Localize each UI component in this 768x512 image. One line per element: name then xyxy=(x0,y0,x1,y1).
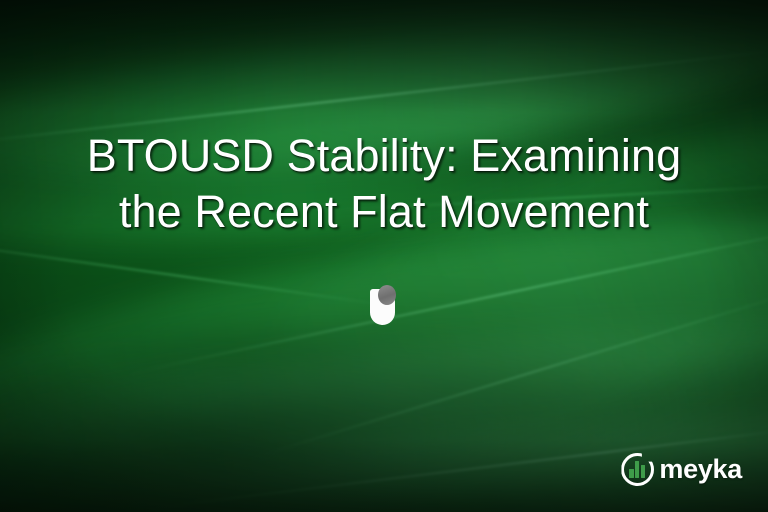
brand-logo[interactable]: meyka xyxy=(621,453,742,486)
background-vignette xyxy=(0,0,768,512)
bar-3 xyxy=(641,465,645,477)
bar-1 xyxy=(629,469,633,478)
bar-chart-in-circle-icon xyxy=(621,453,654,486)
bar-2 xyxy=(635,461,639,478)
droplet-glyph-icon xyxy=(370,285,395,325)
droplet-dot xyxy=(378,285,396,305)
article-hero-banner: BTOUSD Stability: Examining the Recent F… xyxy=(0,0,768,512)
bar-chart-bars xyxy=(629,461,646,478)
page-title: BTOUSD Stability: Examining the Recent F… xyxy=(0,128,768,240)
brand-name-label: meyka xyxy=(659,456,742,483)
